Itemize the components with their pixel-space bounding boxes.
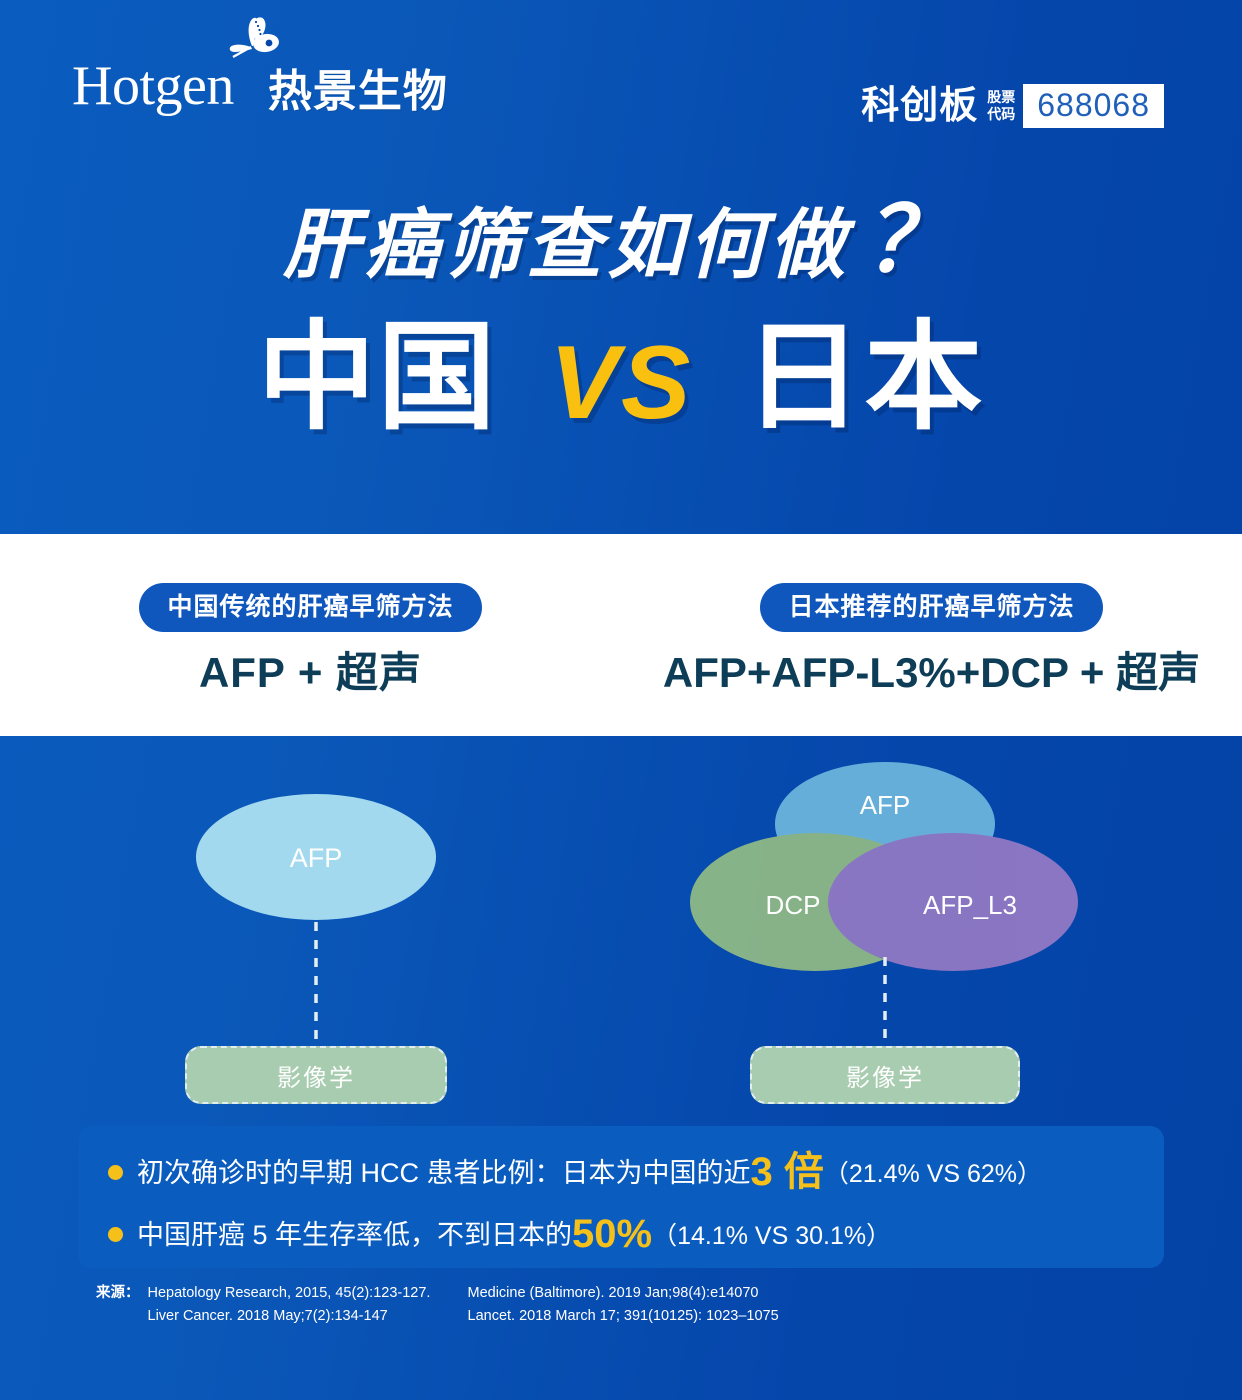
fact-detail: （21.4% VS 62%） (824, 1160, 1042, 1188)
key-facts-panel: 初次确诊时的早期 HCC 患者比例：日本为中国的近3 倍（21.4% VS 62… (78, 1126, 1164, 1268)
diagram-japan: AFP DCP AFP_L3 影像学 (640, 742, 1200, 1122)
imaging-box-china: 影像学 (185, 1046, 447, 1104)
screening-methods-band: 中国传统的肝癌早筛方法 AFP + 超声 日本推荐的肝癌早筛方法 AFP+AFP… (0, 534, 1242, 736)
fact-detail: （14.1% VS 30.1%） (652, 1222, 891, 1250)
sources-section: 来源： Hepatology Research, 2015, 45(2):123… (96, 1282, 1146, 1329)
question-mark: ？ (864, 191, 959, 291)
sources-label: 来源： (96, 1282, 140, 1329)
fact-lead: 初次确诊时的早期 HCC 患者比例：日本为中国的近 (137, 1158, 751, 1188)
fact-text: 中国肝癌 5 年生存率低，不到日本的50%（14.1% VS 30.1%） (137, 1214, 891, 1254)
method-column-japan: 日本推荐的肝癌早筛方法 AFP+AFP-L3%+DCP + 超声 (621, 534, 1242, 736)
diagram-china: AFP 影像学 (60, 742, 620, 1122)
imaging-box-japan: 影像学 (750, 1046, 1020, 1104)
source-citation: Medicine (Baltimore). 2019 Jan;98(4):e14… (468, 1282, 948, 1305)
hero-section: 肝癌筛查如何做？ 中国VS日本 (0, 196, 1242, 516)
page-title-text: 肝癌筛查如何做 (283, 203, 850, 288)
ellipse-afp-l3-label: AFP_L3 (923, 890, 1017, 920)
stock-listing-info: 科创板 股票代码 688068 (861, 84, 1164, 128)
bullet-dot-icon (108, 1227, 123, 1242)
method-formula-japan: AFP+AFP-L3%+DCP + 超声 (663, 652, 1200, 694)
fact-highlight: 50% (572, 1212, 652, 1256)
source-citation: Hepatology Research, 2015, 45(2):123-127… (148, 1282, 468, 1305)
fact-text: 初次确诊时的早期 HCC 患者比例：日本为中国的近3 倍（21.4% VS 62… (137, 1152, 1042, 1192)
ellipse-afp-label: AFP (860, 790, 911, 820)
fact-row: 中国肝癌 5 年生存率低，不到日本的50%（14.1% VS 30.1%） (108, 1208, 1134, 1260)
stock-code-badge: 688068 (1023, 84, 1164, 128)
fact-highlight: 3 倍 (751, 1150, 824, 1194)
butterfly-icon (222, 16, 282, 68)
versus-headline: 中国VS日本 (0, 312, 1242, 444)
page-title: 肝癌筛查如何做？ (0, 196, 1242, 286)
country-right-label: 日本 (744, 312, 984, 444)
method-column-china: 中国传统的肝癌早筛方法 AFP + 超声 (0, 534, 621, 736)
logo-wordmark: Hotgen (72, 55, 234, 117)
bullet-dot-icon (108, 1165, 123, 1180)
sources-column-right: Medicine (Baltimore). 2019 Jan;98(4):e14… (468, 1282, 948, 1329)
brand-logo: Hotgen 热景生物 (72, 58, 448, 114)
fact-row: 初次确诊时的早期 HCC 患者比例：日本为中国的近3 倍（21.4% VS 62… (108, 1146, 1134, 1198)
logo-chinese-name: 热景生物 (268, 70, 448, 114)
marker-diagrams: AFP 影像学 AFP DCP AFP_L3 影像学 (0, 742, 1242, 1122)
method-formula-china: AFP + 超声 (199, 652, 422, 694)
ellipse-dcp-label: DCP (766, 890, 821, 920)
versus-label: VS (550, 325, 693, 441)
source-citation: Liver Cancer. 2018 May;7(2):134-147 (148, 1305, 468, 1328)
stock-code-caption: 股票代码 (987, 89, 1015, 122)
method-pill-japan: 日本推荐的肝癌早筛方法 (760, 583, 1102, 632)
method-pill-china: 中国传统的肝癌早筛方法 (139, 583, 481, 632)
page-header: Hotgen 热景生物 科创板 股票代码 688068 (0, 0, 1242, 175)
source-citation: Lancet. 2018 March 17; 391(10125): 1023–… (468, 1305, 948, 1328)
ellipse-afp-label: AFP (290, 843, 343, 873)
stock-board-name: 科创板 (861, 87, 978, 125)
sources-column-left: Hepatology Research, 2015, 45(2):123-127… (148, 1282, 468, 1329)
country-left-label: 中国 (258, 312, 498, 444)
fact-lead: 中国肝癌 5 年生存率低，不到日本的 (137, 1220, 572, 1250)
